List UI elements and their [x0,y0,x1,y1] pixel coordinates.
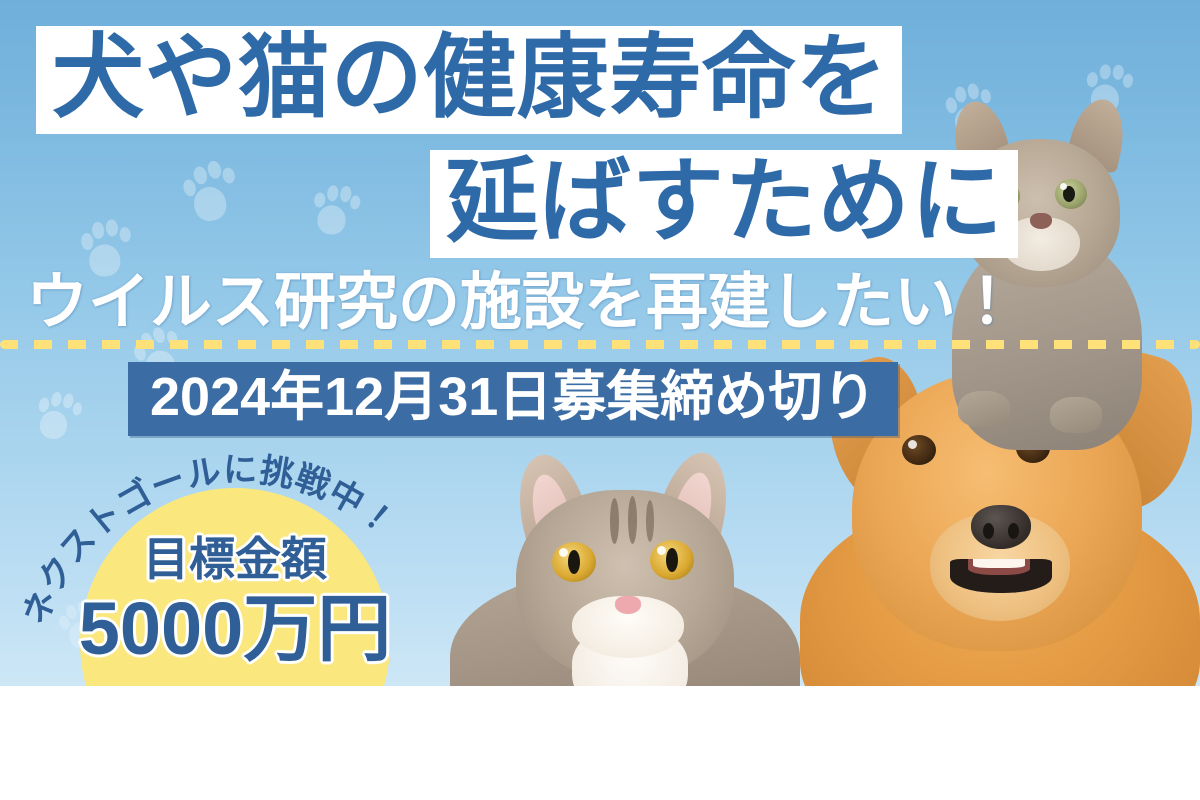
paw-print-icon [31,386,89,447]
title-line-2-text: 延ばすために [446,156,1004,248]
poster-root: 犬や猫の健康寿命を 延ばすために ウイルス研究の施設を再建したい！ 2024年1… [0,0,1200,800]
dashed-divider [0,340,1200,349]
paw-print-icon [308,180,365,240]
cat-photo [460,450,790,686]
title-line-1-text: 犬や猫の健康寿命を [52,32,888,124]
deadline-banner-text: 2024年12月31日募集締め切り [150,367,876,427]
goal-amount-circle [80,488,390,686]
hero-background: 犬や猫の健康寿命を 延ばすために ウイルス研究の施設を再建したい！ 2024年1… [0,0,1200,686]
page-title-line-2: 延ばすために [430,150,1018,258]
footer-bar: 一般社団法人 京都生命科学研究所 Kyoto Animal Human Orga… [0,686,1200,800]
subtitle: ウイルス研究の施設を再建したい！ [26,272,1018,334]
page-title-line-1: 犬や猫の健康寿命を [36,26,902,134]
paw-print-icon [176,154,247,228]
deadline-banner: 2024年12月31日募集締め切り [128,362,898,436]
subtitle-text: ウイルス研究の施設を再建したい！ [26,268,1018,337]
kitten-photo [930,95,1160,425]
